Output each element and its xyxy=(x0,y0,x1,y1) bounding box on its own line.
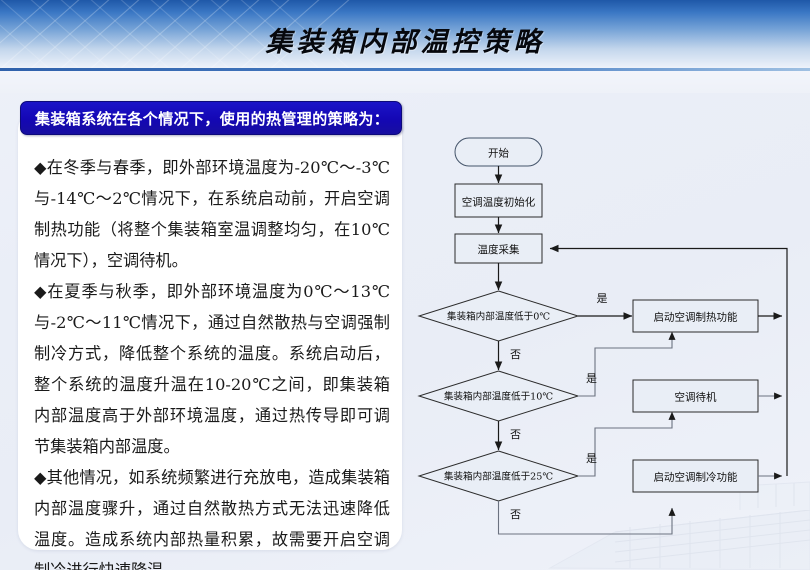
callout-heading-bar: 集装箱系统在各个情况下，使用的热管理的策略为： xyxy=(20,101,402,135)
content-card: ◆在冬季与春季，即外部环境温度为-20℃～-3℃与-14℃～2℃情况下，在系统启… xyxy=(18,110,402,550)
title-banner: 集装箱内部温控策略 xyxy=(0,0,810,68)
flow-node-init: 空调温度初始化 xyxy=(455,184,542,217)
paragraph-summer-autumn: ◆在夏季与秋季，即外部环境温度为0℃～13℃与-2℃～11℃情况下，通过自然散热… xyxy=(34,276,390,462)
flow-node-action-standby-label: 空调待机 xyxy=(675,391,717,404)
page-title: 集装箱内部温控策略 xyxy=(0,20,810,59)
edge-label-yes-1: 是 xyxy=(597,292,608,305)
edge-label-yes-2: 是 xyxy=(586,372,597,385)
flow-node-start: 开始 xyxy=(455,138,542,166)
edge-label-no-2: 否 xyxy=(510,428,521,441)
flow-node-start-label: 开始 xyxy=(488,147,509,160)
flow-node-decision1: 集装箱内部温度低于0℃ xyxy=(419,291,578,341)
paragraph-other-cases: ◆其他情况，如系统频繁进行充放电，造成集装箱内部温度骤升，通过自然散热方式无法迅… xyxy=(34,462,390,570)
slide-root: 集装箱内部温控策略 ◆在冬季与春季，即外部环境温度为-20℃～-3℃与-14℃～… xyxy=(0,0,810,570)
flow-node-init-label: 空调温度初始化 xyxy=(462,196,536,209)
flow-node-decision1-label: 集装箱内部温度低于0℃ xyxy=(447,311,550,323)
edge-label-no-1: 否 xyxy=(510,348,521,361)
temperature-control-flowchart: 开始 空调温度初始化 温度采集 集装箱内部温度低于0℃ 是 xyxy=(410,120,810,540)
edge-label-no-3: 否 xyxy=(510,508,521,521)
flow-node-decision2: 集装箱内部温度低于10℃ xyxy=(419,371,578,421)
flow-node-sample-label: 温度采集 xyxy=(478,243,520,256)
flow-node-decision2-label: 集装箱内部温度低于10℃ xyxy=(444,391,554,403)
flow-node-action-cooling: 启动空调制冷功能 xyxy=(633,460,758,492)
paragraph-winter-spring: ◆在冬季与春季，即外部环境温度为-20℃～-3℃与-14℃～2℃情况下，在系统启… xyxy=(34,152,390,276)
content-card-text: ◆在冬季与春季，即外部环境温度为-20℃～-3℃与-14℃～2℃情况下，在系统启… xyxy=(34,152,390,570)
callout-heading-text: 集装箱系统在各个情况下，使用的热管理的策略为： xyxy=(21,108,389,129)
edge-decision3-no xyxy=(499,501,673,534)
edge-label-yes-3: 是 xyxy=(586,452,597,465)
flow-node-action-standby: 空调待机 xyxy=(633,380,758,412)
flow-node-sample: 温度采集 xyxy=(455,234,542,263)
flow-node-action-heating-label: 启动空调制热功能 xyxy=(654,311,738,324)
edge-return-to-sample xyxy=(550,249,787,477)
banner-underlay xyxy=(0,71,810,93)
flow-node-decision3: 集装箱内部温度低于25℃ xyxy=(419,451,578,501)
flow-node-decision3-label: 集装箱内部温度低于25℃ xyxy=(444,471,554,483)
flow-node-action-cooling-label: 启动空调制冷功能 xyxy=(654,471,738,484)
flow-node-action-heating: 启动空调制热功能 xyxy=(633,300,758,332)
